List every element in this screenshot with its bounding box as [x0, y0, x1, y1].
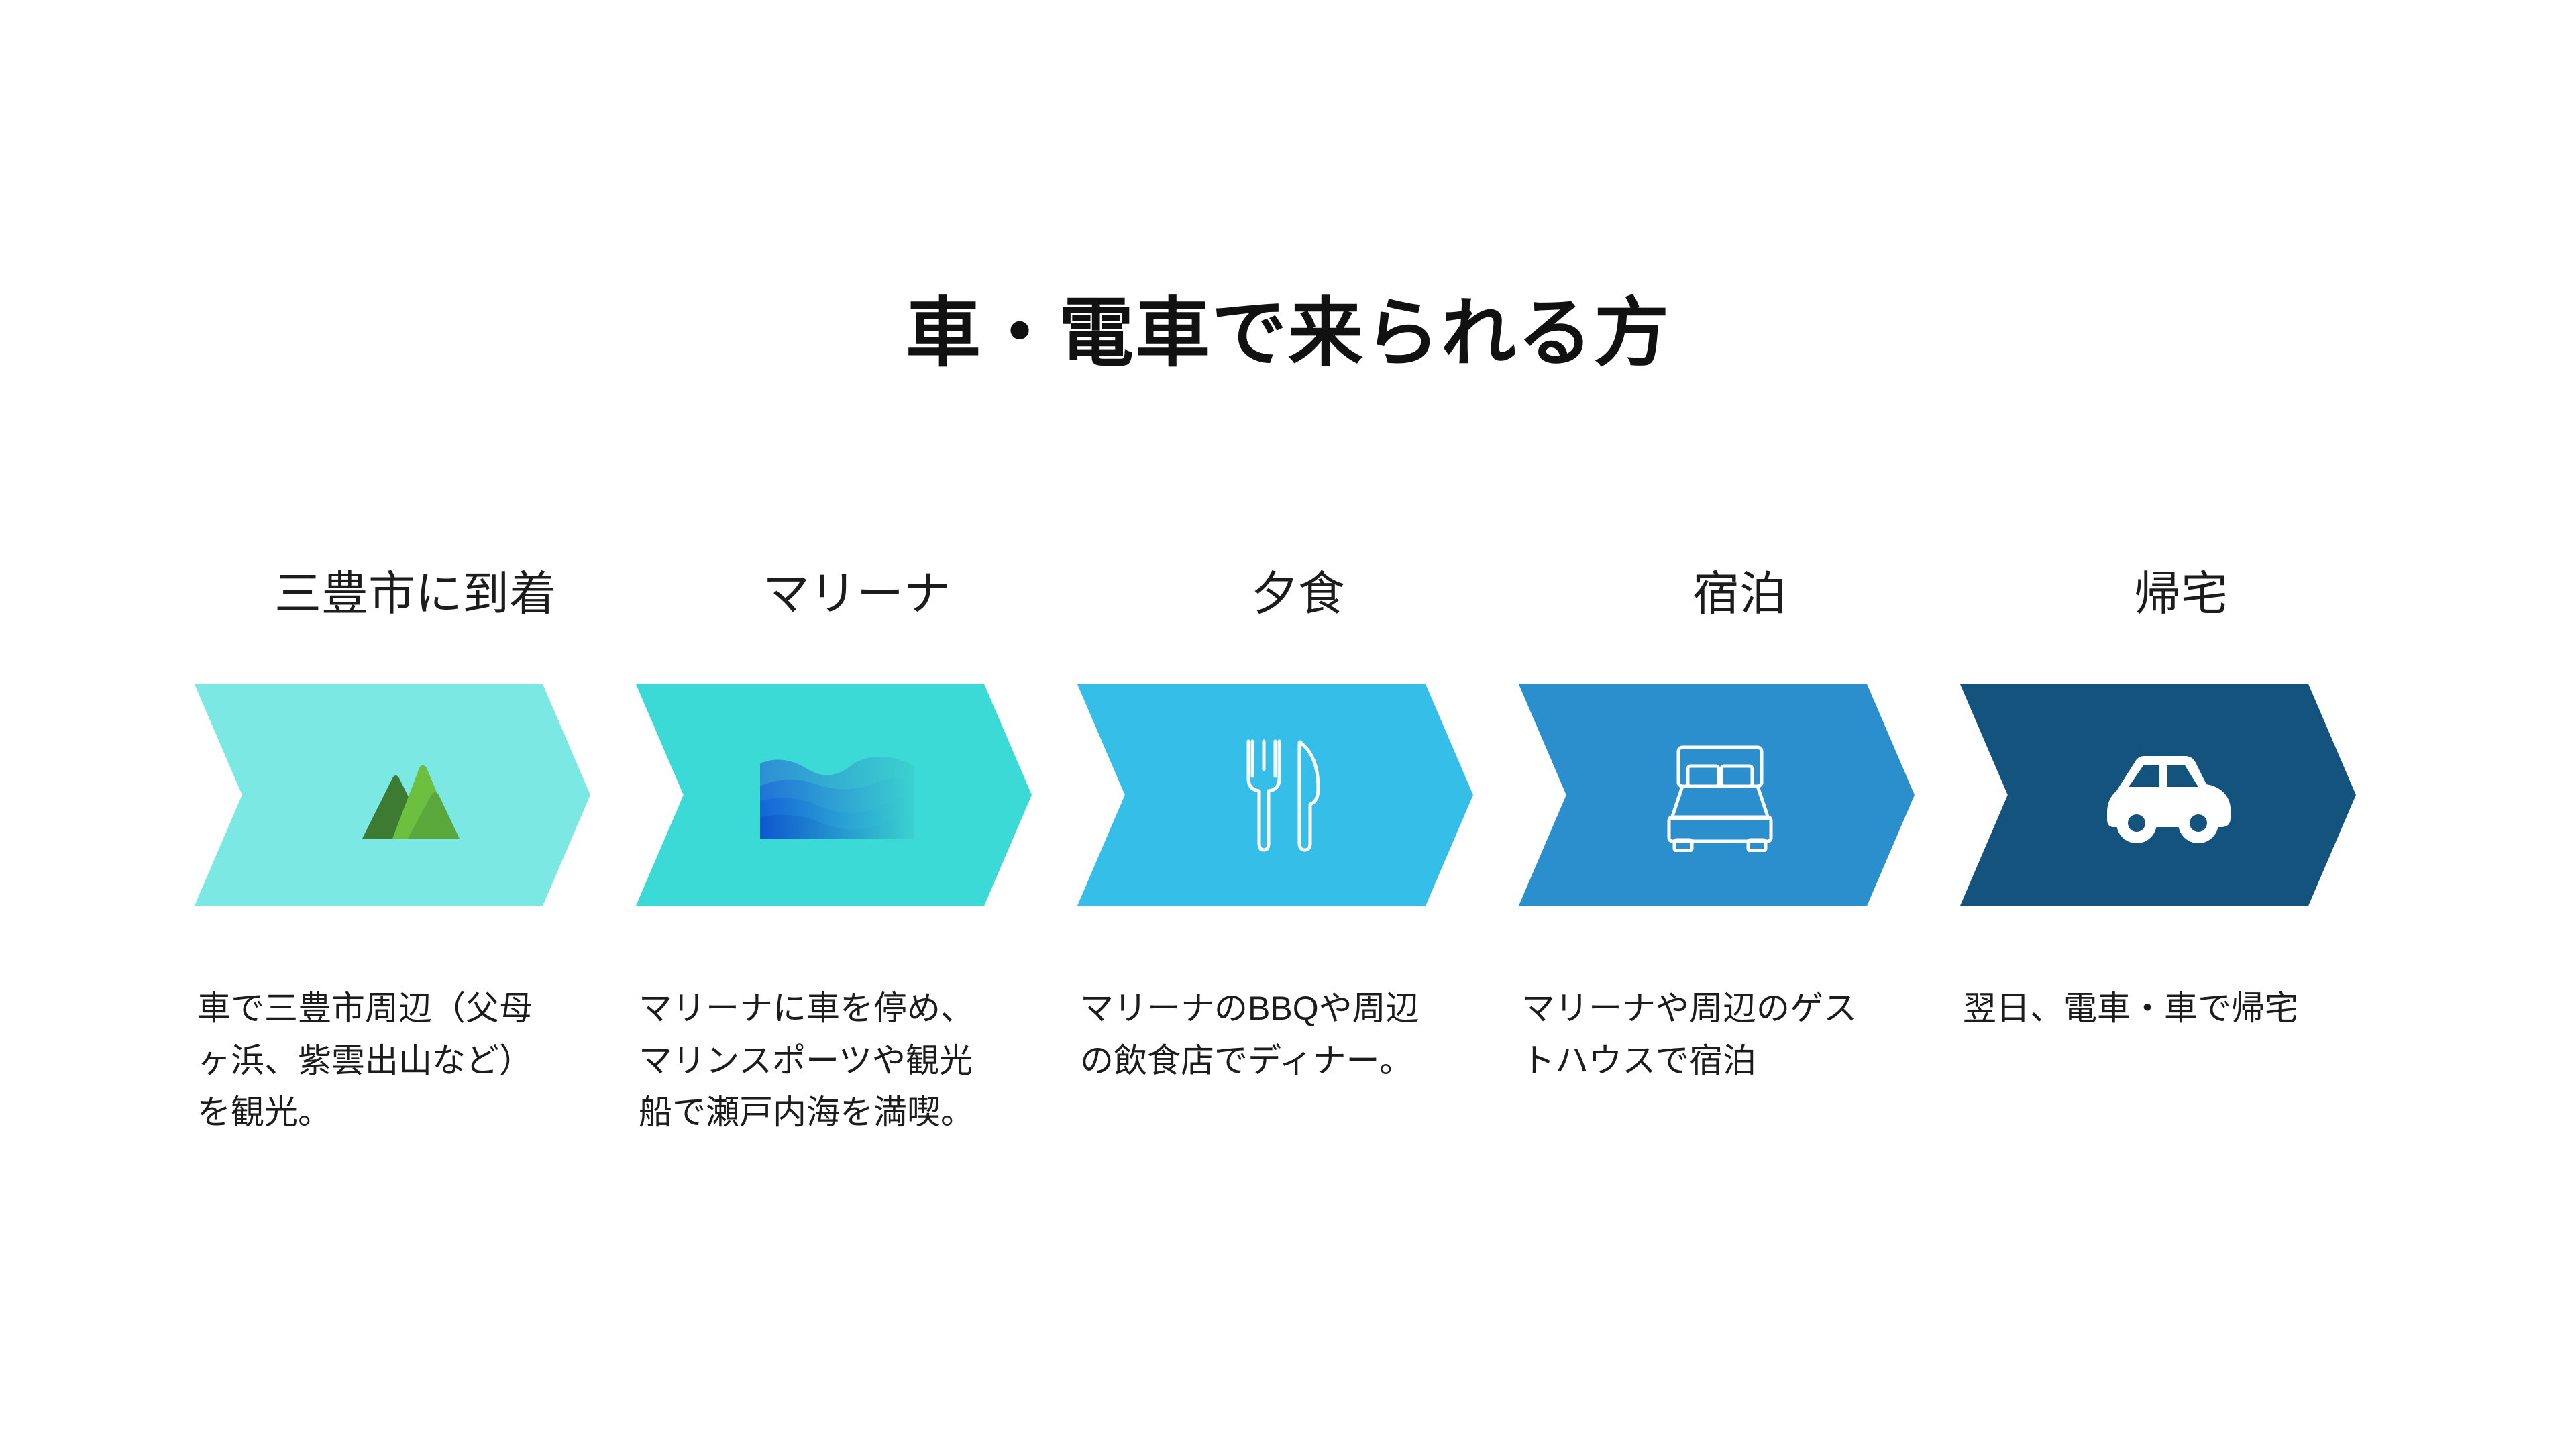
step-3-description: マリーナのBBQや周辺の飲食店でディナー。: [1080, 983, 1442, 1087]
bed-icon: [1643, 728, 1797, 862]
car-icon: [2084, 728, 2239, 862]
process-step-3[interactable]: 夕食 マリーナのBBQや周辺の飲食店でディナー。: [1077, 523, 1519, 1087]
step-1-chevron-wrap: [195, 684, 636, 906]
process-step-4[interactable]: 宿泊: [1519, 523, 1960, 1087]
fork-knife-icon: [1201, 728, 1356, 862]
step-2-chevron-wrap: [636, 684, 1077, 906]
step-2-chevron[interactable]: [636, 684, 1032, 906]
sea-waves-icon: [760, 728, 914, 862]
step-5-heading: 帰宅: [1960, 523, 2402, 624]
step-3-heading: 夕食: [1077, 523, 1519, 624]
process-step-1[interactable]: 三豊市に到着 車で三豊市周辺（父母ヶ浜、紫雲出山など）を観光。: [195, 523, 636, 1139]
step-3-chevron-wrap: [1077, 684, 1519, 906]
step-5-chevron[interactable]: [1960, 684, 2356, 906]
process-flow: 三豊市に到着 車で三豊市周辺（父母ヶ浜、紫雲出山など）を観光。 マリーナ: [195, 523, 2402, 1139]
step-2-heading: マリーナ: [636, 523, 1077, 624]
step-4-chevron[interactable]: [1519, 684, 1915, 906]
process-step-2[interactable]: マリーナ: [636, 523, 1077, 1139]
step-5-chevron-wrap: [1960, 684, 2402, 906]
step-1-heading: 三豊市に到着: [195, 523, 636, 624]
step-1-description: 車で三豊市周辺（父母ヶ浜、紫雲出山など）を観光。: [197, 983, 559, 1139]
page-title: 車・電車で来られる方: [0, 288, 2576, 378]
step-4-heading: 宿泊: [1519, 523, 1960, 624]
step-4-description: マリーナや周辺のゲストハウスで宿泊: [1521, 983, 1884, 1087]
process-step-5[interactable]: 帰宅 翌日、電車・: [1960, 523, 2402, 1035]
slide-canvas: 車・電車で来られる方 三豊市に到着 車で三豊市周辺（父母ヶ浜、紫雲出山など）を観…: [0, 0, 2576, 1449]
step-5-description: 翌日、電車・車で帰宅: [1963, 983, 2325, 1035]
step-1-chevron[interactable]: [195, 684, 590, 906]
step-4-chevron-wrap: [1519, 684, 1960, 906]
step-2-description: マリーナに車を停め、マリンスポーツや観光船で瀬戸内海を満喫。: [639, 983, 1001, 1139]
mountains-icon: [319, 728, 473, 862]
step-3-chevron[interactable]: [1077, 684, 1473, 906]
